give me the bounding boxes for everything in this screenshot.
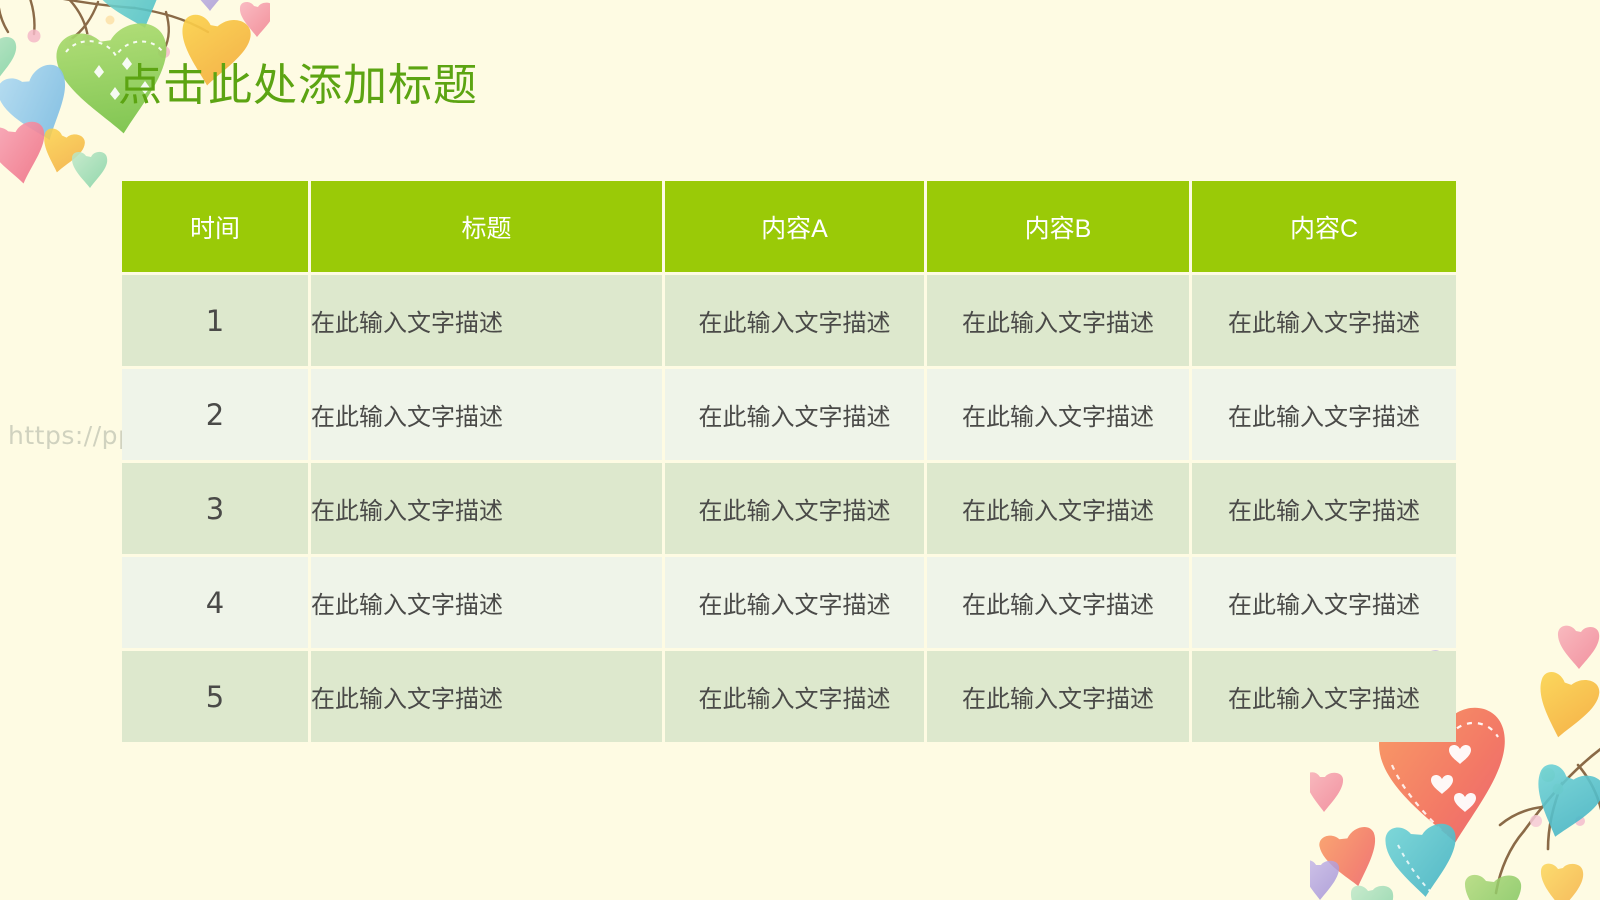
- table-row: 3 在此输入文字描述 在此输入文字描述 在此输入文字描述 在此输入文字描述: [122, 463, 1456, 554]
- column-header-content-c[interactable]: 内容C: [1192, 181, 1456, 272]
- page-title: 点击此处添加标题: [118, 56, 478, 116]
- cell-content-c[interactable]: 在此输入文字描述: [1192, 651, 1456, 742]
- cell-time[interactable]: 5: [122, 651, 308, 742]
- cell-content-b[interactable]: 在此输入文字描述: [927, 557, 1189, 648]
- cell-content-a[interactable]: 在此输入文字描述: [665, 463, 924, 554]
- cell-content-c[interactable]: 在此输入文字描述: [1192, 463, 1456, 554]
- column-header-content-a[interactable]: 内容A: [665, 181, 924, 272]
- cell-content-b[interactable]: 在此输入文字描述: [927, 463, 1189, 554]
- cell-content-b[interactable]: 在此输入文字描述: [927, 369, 1189, 460]
- cell-content-c[interactable]: 在此输入文字描述: [1192, 275, 1456, 366]
- table-header-row: 时间 标题 内容A 内容B 内容C: [122, 181, 1456, 272]
- cell-time[interactable]: 2: [122, 369, 308, 460]
- cell-content-c[interactable]: 在此输入文字描述: [1192, 369, 1456, 460]
- column-header-title[interactable]: 标题: [311, 181, 662, 272]
- table-row: 2 在此输入文字描述 在此输入文字描述 在此输入文字描述 在此输入文字描述: [122, 369, 1456, 460]
- cell-title[interactable]: 在此输入文字描述: [311, 651, 662, 742]
- cell-content-a[interactable]: 在此输入文字描述: [665, 651, 924, 742]
- cell-time[interactable]: 4: [122, 557, 308, 648]
- table-row: 1 在此输入文字描述 在此输入文字描述 在此输入文字描述 在此输入文字描述: [122, 275, 1456, 366]
- cell-content-b[interactable]: 在此输入文字描述: [927, 275, 1189, 366]
- cell-content-c[interactable]: 在此输入文字描述: [1192, 557, 1456, 648]
- cell-content-a[interactable]: 在此输入文字描述: [665, 369, 924, 460]
- table-header: 时间 标题 内容A 内容B 内容C: [122, 181, 1456, 272]
- cell-time[interactable]: 3: [122, 463, 308, 554]
- column-header-time[interactable]: 时间: [122, 181, 308, 272]
- column-header-content-b[interactable]: 内容B: [927, 181, 1189, 272]
- table-body: 1 在此输入文字描述 在此输入文字描述 在此输入文字描述 在此输入文字描述 2 …: [122, 275, 1456, 742]
- data-table-container: 时间 标题 内容A 内容B 内容C 1 在此输入文字描述 在此输入文字描述 在此…: [122, 181, 1444, 746]
- cell-content-a[interactable]: 在此输入文字描述: [665, 557, 924, 648]
- cell-title[interactable]: 在此输入文字描述: [311, 369, 662, 460]
- cell-content-b[interactable]: 在此输入文字描述: [927, 651, 1189, 742]
- cell-content-a[interactable]: 在此输入文字描述: [665, 275, 924, 366]
- cell-title[interactable]: 在此输入文字描述: [311, 557, 662, 648]
- slide-canvas: 点击此处添加标题 https://ppt.pkll.de 时间 标题 内容A 内…: [0, 0, 1600, 900]
- table-row: 4 在此输入文字描述 在此输入文字描述 在此输入文字描述 在此输入文字描述: [122, 557, 1456, 648]
- cell-title[interactable]: 在此输入文字描述: [311, 463, 662, 554]
- table-row: 5 在此输入文字描述 在此输入文字描述 在此输入文字描述 在此输入文字描述: [122, 651, 1456, 742]
- cell-title[interactable]: 在此输入文字描述: [311, 275, 662, 366]
- cell-time[interactable]: 1: [122, 275, 308, 366]
- data-table: 时间 标题 内容A 内容B 内容C 1 在此输入文字描述 在此输入文字描述 在此…: [119, 178, 1459, 745]
